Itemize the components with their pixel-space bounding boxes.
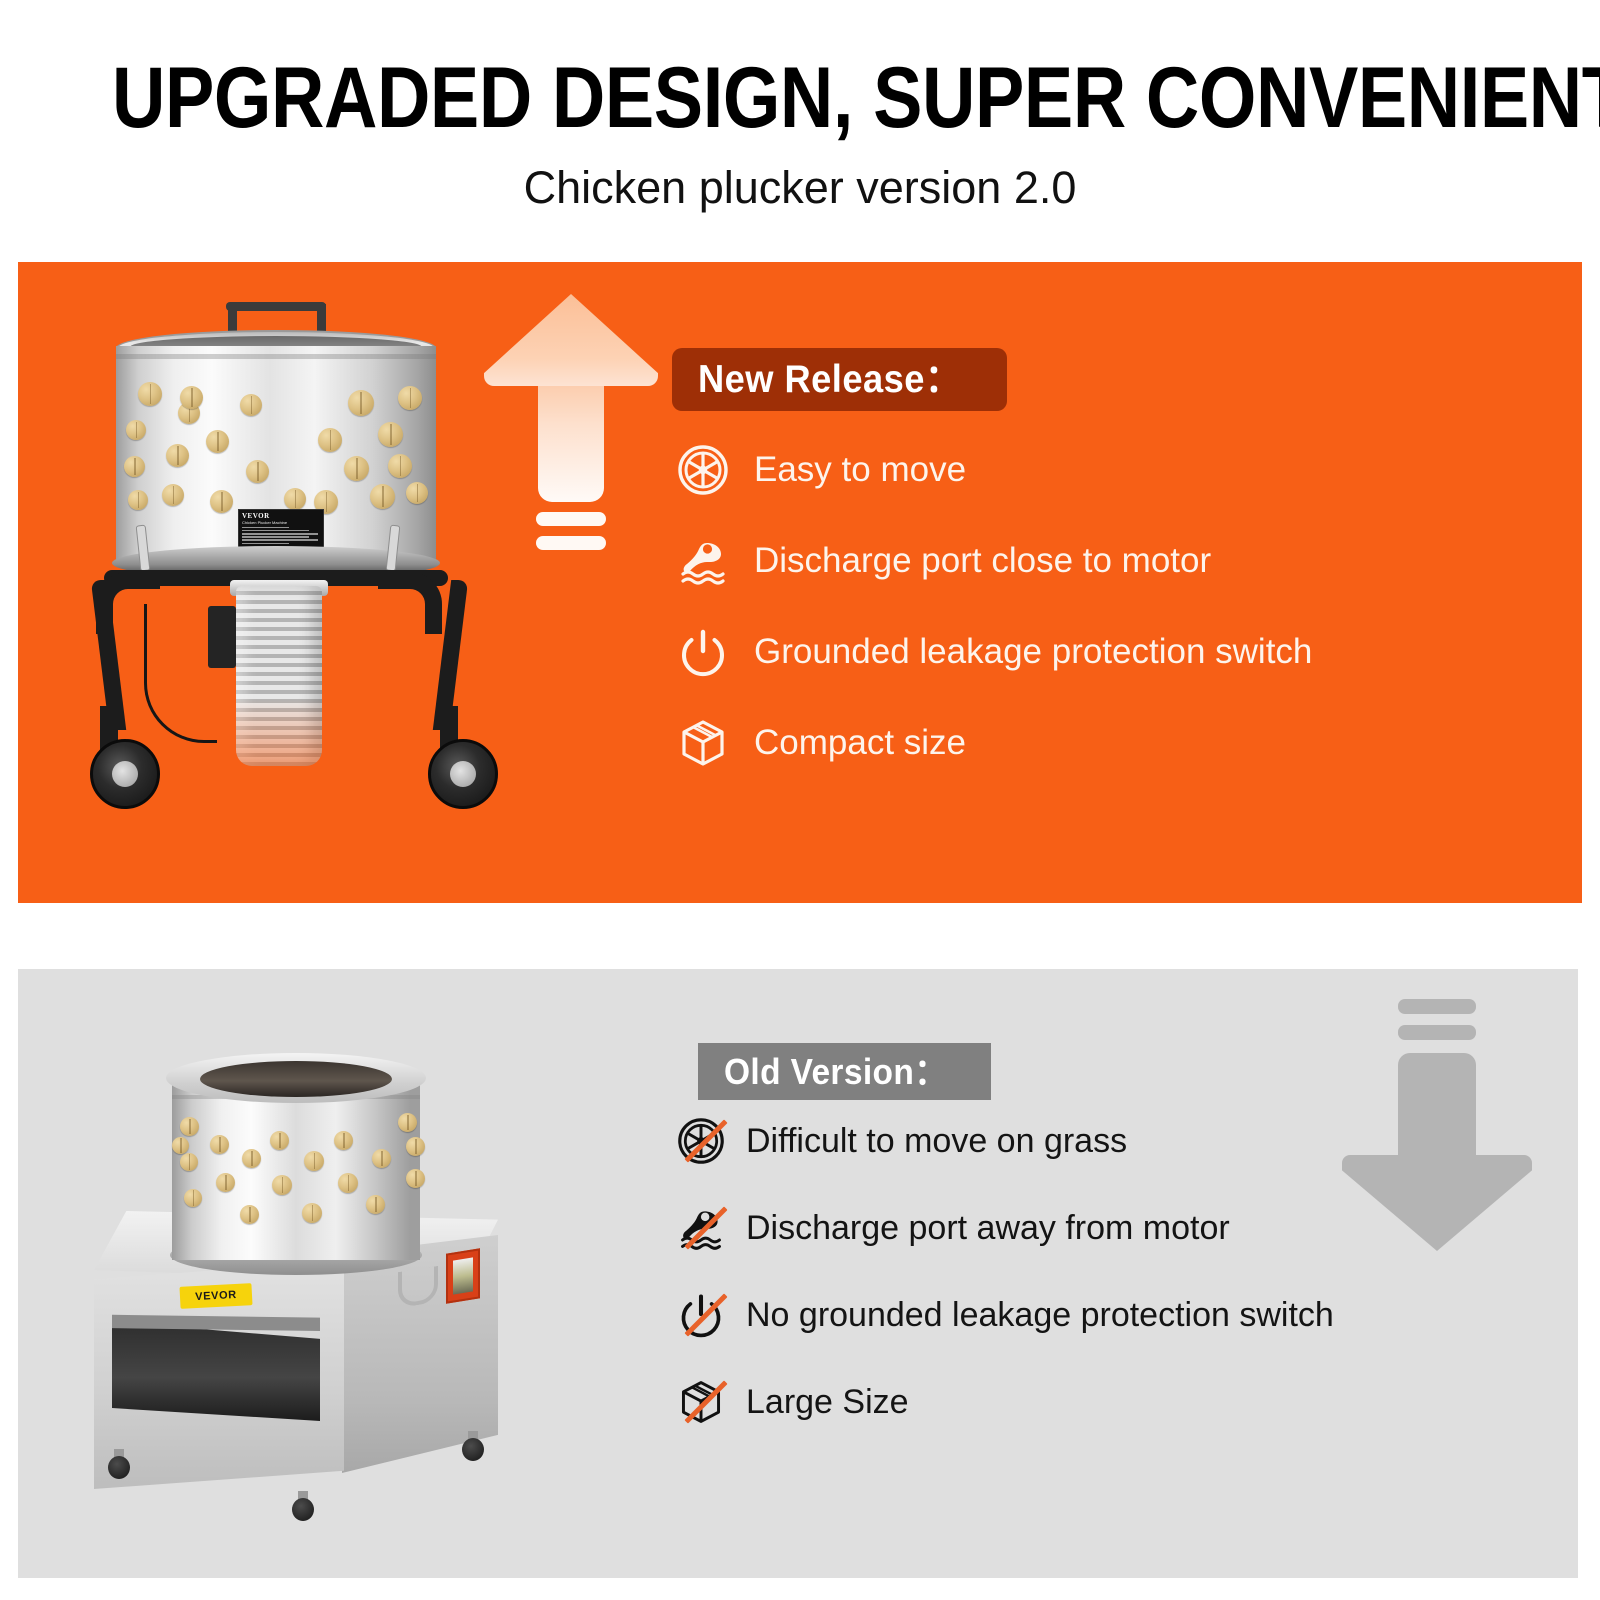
feature-row-compact-size: Compact size <box>676 713 1536 773</box>
rubber-finger <box>210 1135 229 1154</box>
arrow-up-icon <box>470 276 670 546</box>
label-spec-line <box>242 533 318 535</box>
rubber-finger <box>216 1173 235 1192</box>
discharge-port-icon <box>676 534 730 588</box>
rubber-finger <box>398 386 422 410</box>
rubber-finger <box>284 488 306 510</box>
arrow-down-motion-bar <box>1398 1025 1476 1040</box>
rubber-finger <box>348 390 374 416</box>
feature-label: Difficult to move on grass <box>746 1120 1127 1162</box>
feature-row-easy-to-move: Easy to move <box>676 440 1536 500</box>
label-spec-line <box>242 536 309 538</box>
label-spec-line <box>242 527 289 529</box>
power-switch-icon <box>676 625 730 679</box>
rubber-finger <box>162 484 184 506</box>
rubber-finger <box>128 490 148 510</box>
vevor-badge-label: VEVOR <box>195 1289 237 1303</box>
rubber-finger <box>184 1189 202 1207</box>
arrow-down-motion-bar <box>1398 999 1476 1014</box>
rubber-finger <box>240 1205 259 1224</box>
rubber-finger <box>304 1151 324 1171</box>
vevor-badge: VEVOR <box>179 1283 252 1309</box>
page-title: UPGRADED DESIGN, SUPER CONVENIENT <box>112 52 1488 144</box>
wheel-icon <box>676 1116 726 1166</box>
power-cord <box>144 604 217 743</box>
rubber-finger <box>344 456 369 481</box>
drum-band <box>116 354 436 359</box>
label-brand: VEVOR <box>242 512 320 520</box>
feature-row-discharge-away: Discharge port away from motor <box>676 1200 1566 1256</box>
rubber-finger <box>318 428 342 452</box>
old-drum-opening <box>200 1061 392 1097</box>
feature-row-large-size: Large Size <box>676 1374 1566 1430</box>
feature-label: Discharge port close to motor <box>754 540 1211 582</box>
wheel-left <box>90 739 160 809</box>
box-icon <box>676 1377 726 1427</box>
discharge-port-icon <box>676 1203 726 1253</box>
rubber-finger <box>180 386 203 409</box>
old-version-badge-label: Old Version： <box>724 1052 948 1092</box>
header: UPGRADED DESIGN, SUPER CONVENIENT Chicke… <box>0 0 1600 250</box>
feature-label: No grounded leakage protection switch <box>746 1294 1334 1336</box>
rubber-finger <box>124 456 145 477</box>
rubber-finger <box>406 1169 425 1188</box>
feature-label: Grounded leakage protection switch <box>754 631 1312 673</box>
new-machine-image: VEVOR Chicken Plucker Machine <box>78 294 498 874</box>
feature-row-discharge-port: Discharge port close to motor <box>676 531 1536 591</box>
drum-handle-icon <box>226 302 326 311</box>
label-model: Chicken Plucker Machine <box>242 520 320 525</box>
rubber-finger <box>166 444 189 467</box>
box-icon <box>676 716 730 770</box>
feature-label: Easy to move <box>754 449 966 491</box>
rubber-finger <box>180 1117 199 1136</box>
page-subtitle: Chicken plucker version 2.0 <box>0 162 1600 214</box>
arrow-up-head <box>484 294 658 386</box>
wheel-right <box>428 739 498 809</box>
discharge-hose-shadow <box>236 698 322 768</box>
rubber-finger <box>270 1131 289 1150</box>
rubber-finger <box>388 454 412 478</box>
rubber-finger <box>406 1137 425 1156</box>
rubber-finger <box>126 420 146 440</box>
rubber-finger <box>206 430 229 453</box>
feature-row-leakage-switch: Grounded leakage protection switch <box>676 622 1536 682</box>
rubber-finger <box>398 1113 417 1132</box>
old-machine-image: VEVOR <box>76 1013 516 1553</box>
rubber-finger <box>372 1149 391 1168</box>
rubber-finger <box>370 484 395 509</box>
feature-label: Compact size <box>754 722 966 764</box>
rubber-finger <box>406 482 428 504</box>
new-feature-list: Easy to move Discharge port close to mot… <box>676 440 1536 804</box>
rubber-finger <box>240 394 262 416</box>
drum-handle-leg-left <box>228 304 237 334</box>
caster-rear-right <box>462 1431 484 1461</box>
rubber-finger <box>210 490 233 513</box>
label-spec-line <box>242 539 318 541</box>
old-version-badge: Old Version： <box>698 1043 991 1100</box>
label-spec-line <box>242 530 309 532</box>
rubber-finger <box>180 1153 198 1171</box>
rubber-finger <box>138 382 162 406</box>
rubber-finger <box>334 1131 353 1150</box>
rubber-finger <box>366 1195 385 1214</box>
caster-front-right <box>292 1491 314 1521</box>
rubber-finger <box>242 1149 261 1168</box>
caster-front-left <box>108 1449 130 1479</box>
arrow-up-motion-bar <box>536 512 606 526</box>
new-release-badge-label: New Release： <box>698 359 962 401</box>
feature-label: Large Size <box>746 1381 909 1423</box>
label-spec-line <box>242 543 289 545</box>
wheel-icon <box>676 443 730 497</box>
drum-handle-leg-right <box>317 304 326 334</box>
power-switch-icon <box>676 1290 726 1340</box>
product-spec-label: VEVOR Chicken Plucker Machine <box>238 509 324 551</box>
rubber-finger <box>246 460 269 483</box>
feature-row-no-leakage-switch: No grounded leakage protection switch <box>676 1287 1566 1343</box>
arrow-up-shaft <box>538 372 604 502</box>
rubber-finger <box>338 1173 358 1193</box>
old-feature-list: Difficult to move on grass Discharge por… <box>676 1113 1566 1461</box>
feature-row-difficult-to-move: Difficult to move on grass <box>676 1113 1566 1169</box>
switch-face <box>453 1257 473 1294</box>
feature-label: Discharge port away from motor <box>746 1207 1230 1249</box>
rubber-finger <box>272 1175 292 1195</box>
rubber-finger <box>172 1137 189 1154</box>
rubber-finger <box>302 1203 322 1223</box>
new-release-badge: New Release： <box>672 348 1007 411</box>
frame-leg-right-curve <box>378 572 442 634</box>
arrow-up-motion-bar <box>536 536 606 550</box>
rubber-finger <box>378 422 403 447</box>
